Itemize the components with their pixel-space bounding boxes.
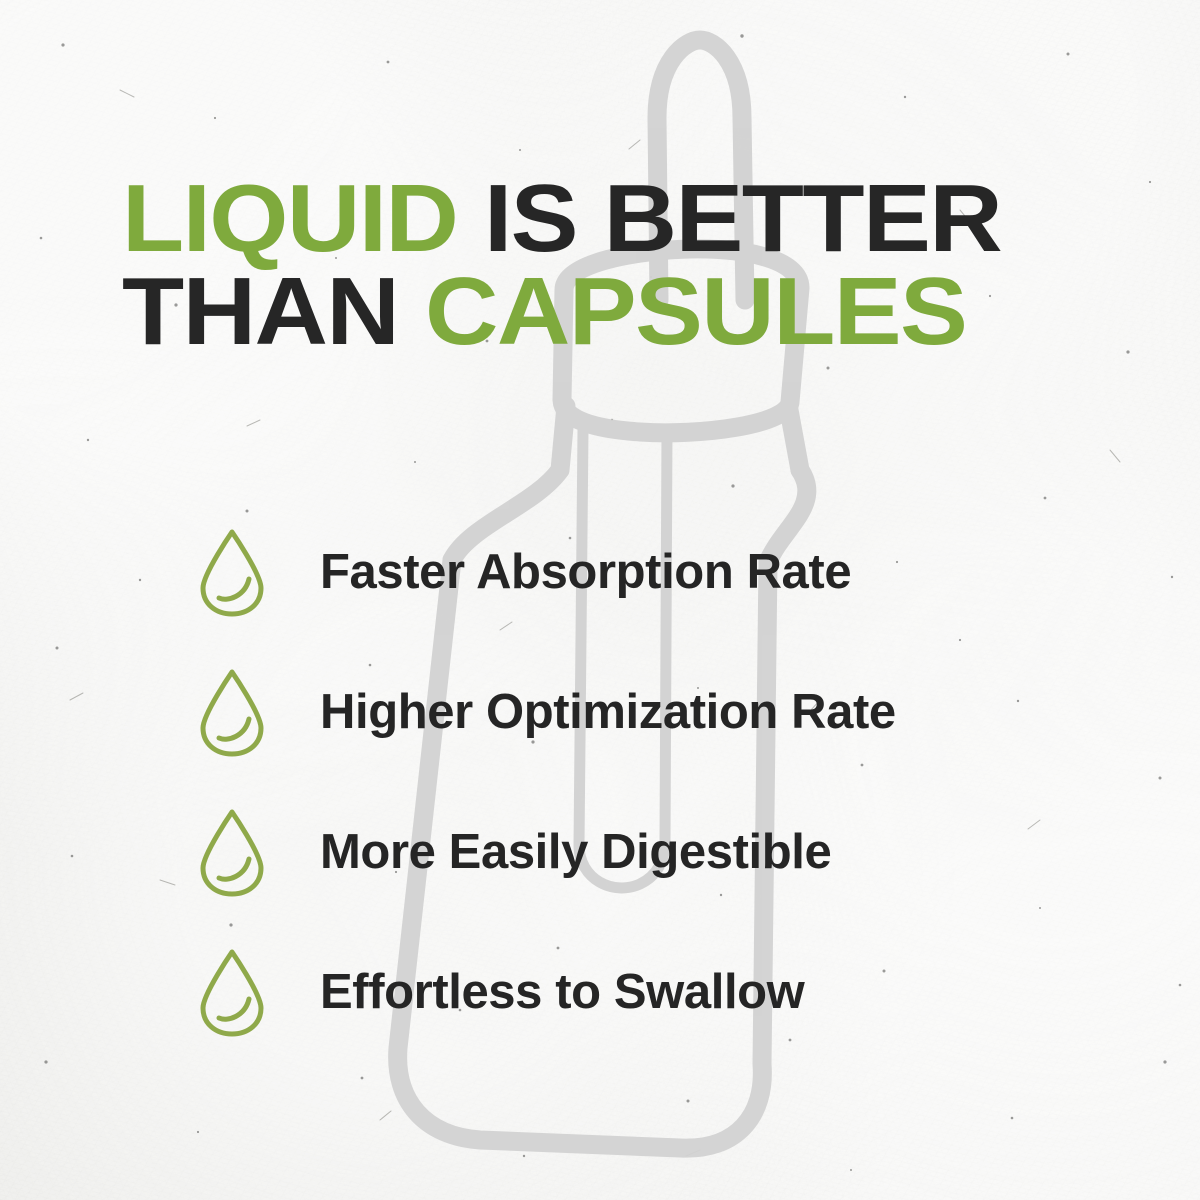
benefit-label: More Easily Digestible: [320, 824, 831, 880]
list-item: Effortless to Swallow: [196, 944, 1096, 1040]
water-drop-icon: [196, 526, 268, 618]
list-item: More Easily Digestible: [196, 804, 1096, 900]
list-item: Higher Optimization Rate: [196, 664, 1096, 760]
benefit-label: Faster Absorption Rate: [320, 544, 851, 600]
water-drop-icon: [196, 946, 268, 1038]
headline-word-capsules: CAPSULES: [425, 258, 966, 365]
headline-word-liquid: LIQUID: [122, 165, 457, 272]
benefits-list: Faster Absorption Rate Higher Optimizati…: [196, 524, 1096, 1040]
infographic-canvas: LIQUID IS BETTER THAN CAPSULES Faster Ab…: [0, 0, 1200, 1200]
water-drop-icon: [196, 666, 268, 758]
benefit-label: Higher Optimization Rate: [320, 684, 896, 740]
benefit-label: Effortless to Swallow: [320, 964, 804, 1020]
water-drop-icon: [196, 806, 268, 898]
list-item: Faster Absorption Rate: [196, 524, 1096, 620]
headline-word-is-better: IS BETTER: [484, 165, 1001, 272]
page-title: LIQUID IS BETTER THAN CAPSULES: [122, 172, 1182, 358]
headline-word-than: THAN: [122, 258, 398, 365]
